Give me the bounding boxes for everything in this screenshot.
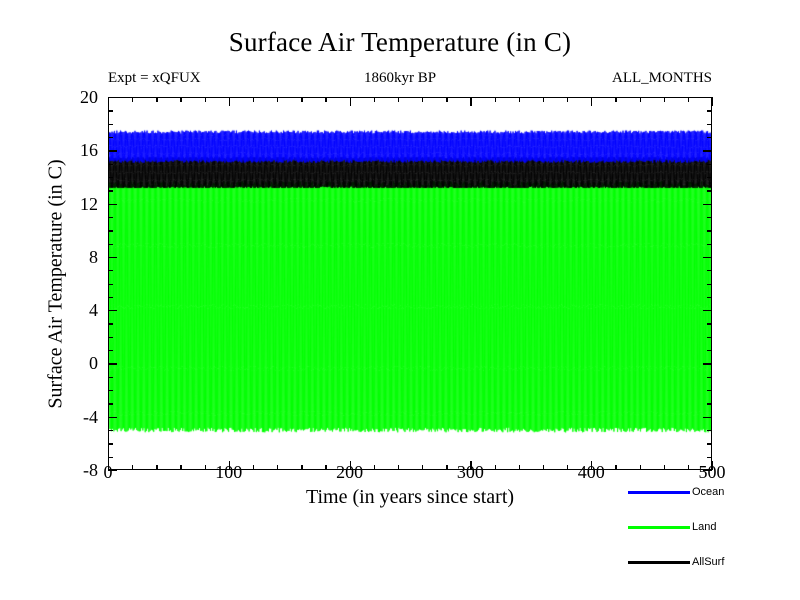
y-minor-tick-right [707,323,712,324]
y-minor-tick-right [707,284,712,285]
y-minor-tick [108,137,113,138]
chart-title: Surface Air Temperature (in C) [0,26,800,58]
x-minor-tick-top [156,97,157,102]
x-minor-tick [422,465,423,470]
legend-item: Land [628,519,796,535]
y-major-tick-right [703,310,712,311]
x-minor-tick-top [132,97,133,102]
legend-label: AllSurf [692,554,724,570]
y-minor-tick [108,284,113,285]
legend-label: Land [692,519,716,535]
y-minor-tick [108,177,113,178]
x-minor-tick-top [277,97,278,102]
x-tick-label: 400 [578,462,605,482]
x-tick-label: 100 [215,462,242,482]
y-minor-tick [108,337,113,338]
x-tick-label: 500 [699,462,726,482]
x-minor-tick-top [615,97,616,102]
x-minor-tick [567,465,568,470]
x-major-tick-top [591,97,592,106]
x-minor-tick [640,465,641,470]
x-minor-tick [688,465,689,470]
y-major-tick-right [703,363,712,364]
x-minor-tick-top [519,97,520,102]
x-minor-tick [132,465,133,470]
legend-swatch [628,526,690,529]
x-minor-tick-top [446,97,447,102]
y-minor-tick [108,190,113,191]
x-minor-tick [543,465,544,470]
x-tick-label: 0 [104,462,113,482]
x-tick-label: 200 [336,462,363,482]
y-tick-label: 20 [50,87,98,107]
y-minor-tick [108,430,113,431]
y-tick-label: 0 [50,353,98,373]
y-tick-label: -4 [50,407,98,427]
x-minor-tick [615,465,616,470]
legend-item: Ocean [628,484,796,500]
legend-label: Ocean [692,484,724,500]
y-minor-tick [108,297,113,298]
x-minor-tick [205,465,206,470]
y-minor-tick-right [707,244,712,245]
y-minor-tick-right [707,190,712,191]
y-minor-tick-right [707,110,712,111]
x-tick-label: 300 [457,462,484,482]
x-minor-tick-top [398,97,399,102]
y-minor-tick-right [707,297,712,298]
plot-area [108,97,712,470]
x-minor-tick [398,465,399,470]
y-minor-tick-right [707,230,712,231]
y-minor-tick-right [707,403,712,404]
y-major-tick [108,204,117,205]
x-minor-tick-top [567,97,568,102]
y-major-tick [108,257,117,258]
x-minor-tick-top [422,97,423,102]
y-minor-tick-right [707,137,712,138]
x-minor-tick-top [301,97,302,102]
x-minor-tick-top [688,97,689,102]
y-minor-tick [108,124,113,125]
x-minor-tick-top [495,97,496,102]
y-major-tick [108,97,117,98]
x-minor-tick-top [374,97,375,102]
x-minor-tick [325,465,326,470]
x-major-tick-top [712,97,713,106]
y-minor-tick-right [707,350,712,351]
x-major-tick-top [229,97,230,106]
y-tick-label: 16 [50,140,98,160]
x-minor-tick [253,465,254,470]
x-minor-tick [156,465,157,470]
x-minor-tick [446,465,447,470]
y-minor-tick-right [707,124,712,125]
x-minor-tick [519,465,520,470]
x-axis-title: Time (in years since start) [108,486,712,509]
y-major-tick [108,363,117,364]
y-tick-label: 8 [50,247,98,267]
y-minor-tick-right [707,377,712,378]
y-major-tick [108,310,117,311]
figure-canvas: Surface Air Temperature (in C) Expt = xQ… [0,0,800,600]
legend-swatch [628,561,690,564]
y-minor-tick-right [707,270,712,271]
y-minor-tick [108,323,113,324]
y-tick-label: 12 [50,194,98,214]
y-minor-tick [108,443,113,444]
y-major-tick-right [703,97,712,98]
y-major-tick [108,150,117,151]
y-minor-tick-right [707,457,712,458]
y-minor-tick-right [707,390,712,391]
y-tick-label: 4 [50,300,98,320]
x-minor-tick-top [664,97,665,102]
x-major-tick-top [108,97,109,106]
y-major-tick-right [703,257,712,258]
x-minor-tick [277,465,278,470]
y-major-tick-right [703,417,712,418]
y-minor-tick-right [707,443,712,444]
y-minor-tick [108,244,113,245]
legend: OceanLandAllSurf [628,484,796,570]
legend-swatch [628,491,690,494]
x-minor-tick [180,465,181,470]
legend-item: AllSurf [628,554,796,570]
months-label: ALL_MONTHS [612,69,712,87]
y-minor-tick [108,110,113,111]
y-minor-tick-right [707,217,712,218]
y-minor-tick [108,230,113,231]
y-minor-tick [108,164,113,165]
x-minor-tick [374,465,375,470]
y-minor-tick [108,350,113,351]
y-minor-tick [108,390,113,391]
y-minor-tick [108,457,113,458]
y-tick-label: -8 [50,460,98,480]
series-plot-canvas [109,98,712,470]
y-minor-tick-right [707,164,712,165]
x-minor-tick-top [180,97,181,102]
y-minor-tick-right [707,337,712,338]
y-major-tick-right [703,150,712,151]
x-minor-tick-top [640,97,641,102]
x-minor-tick [664,465,665,470]
x-minor-tick-top [253,97,254,102]
x-major-tick-top [470,97,471,106]
y-major-tick [108,417,117,418]
x-minor-tick-top [325,97,326,102]
y-minor-tick-right [707,177,712,178]
x-minor-tick [301,465,302,470]
x-major-tick-top [350,97,351,106]
y-major-tick-right [703,204,712,205]
y-minor-tick [108,217,113,218]
y-minor-tick [108,377,113,378]
x-minor-tick-top [205,97,206,102]
y-minor-tick [108,270,113,271]
x-minor-tick [495,465,496,470]
y-minor-tick-right [707,430,712,431]
x-minor-tick-top [543,97,544,102]
y-minor-tick [108,403,113,404]
